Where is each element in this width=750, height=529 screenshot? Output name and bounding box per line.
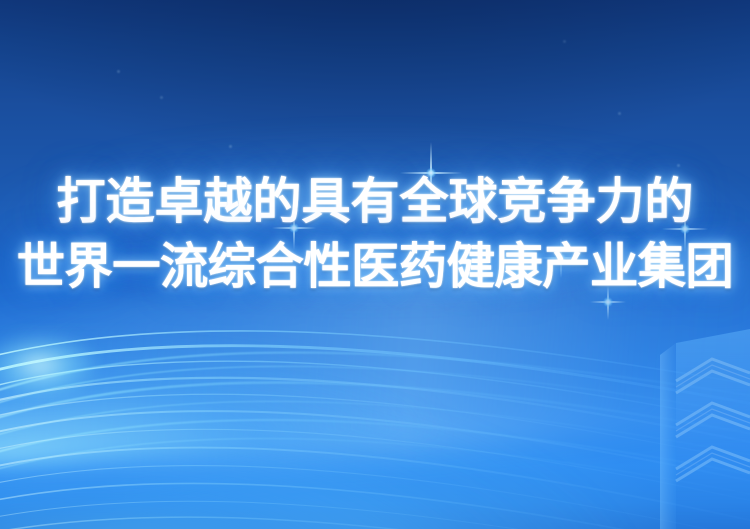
corporate-slogan-banner: 打造卓越的具有全球竞争力的 世界一流综合性医药健康产业集团 [0,0,750,529]
streak-origin-hotspot [0,318,125,413]
light-speck [160,96,163,99]
light-speck [677,164,680,167]
light-speck [618,112,621,115]
slogan-headline: 打造卓越的具有全球竞争力的 世界一流综合性医药健康产业集团 [0,176,750,294]
light-speck [117,70,120,73]
slogan-line-2: 世界一流综合性医药健康产业集团 [6,241,745,294]
light-speck [229,145,232,148]
slogan-line-1: 打造卓越的具有全球竞争力的 [0,176,750,229]
light-speck [563,40,566,43]
